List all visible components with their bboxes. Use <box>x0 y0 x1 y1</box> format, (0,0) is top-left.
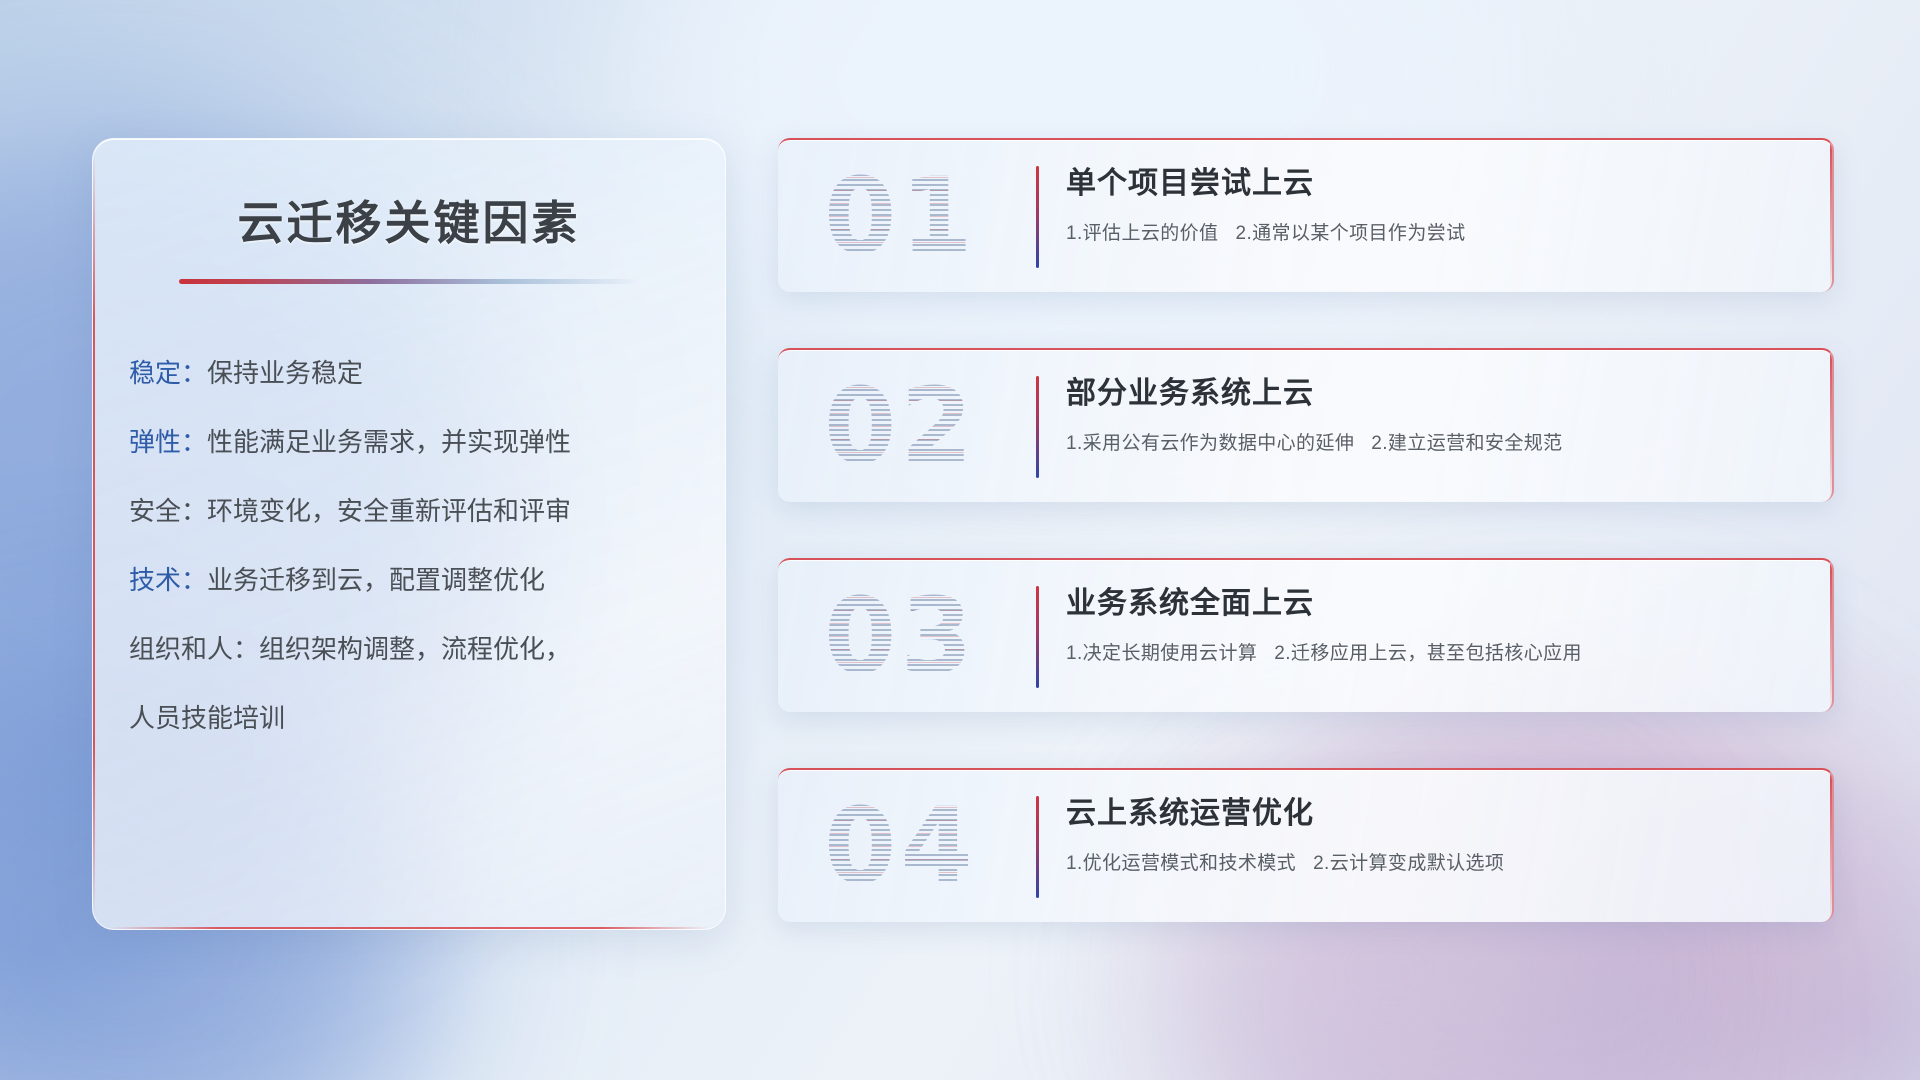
factor-text: 业务迁移到云，配置调整优化 <box>207 565 545 595</box>
factor-list: 稳定：保持业务稳定弹性：性能满足业务需求，并实现弹性安全：环境变化，安全重新评估… <box>129 360 725 731</box>
step-divider-bar <box>1036 376 1039 478</box>
step-title: 部分业务系统上云 <box>1066 376 1802 412</box>
factor-row: 安全：环境变化，安全重新评估和评审 <box>129 498 701 524</box>
step-number-tint-overlay: 02 <box>824 374 977 478</box>
factor-row: 技术：业务迁移到云，配置调整优化 <box>129 567 701 593</box>
factor-text: 组织架构调整，流程优化， <box>259 634 571 664</box>
factor-row: 弹性：性能满足业务需求，并实现弹性 <box>129 429 701 455</box>
step-description: 1.采用公有云作为数据中心的延伸 2.建立运营和安全规范 <box>1066 428 1802 455</box>
migration-steps-list: 0101单个项目尝试上云1.评估上云的价值 2.通常以某个项目作为尝试0202部… <box>778 138 1834 922</box>
step-title: 单个项目尝试上云 <box>1066 166 1802 202</box>
step-number-tint-overlay: 04 <box>824 794 977 898</box>
step-description: 1.评估上云的价值 2.通常以某个项目作为尝试 <box>1066 218 1802 245</box>
factor-row: 稳定：保持业务稳定 <box>129 360 701 386</box>
title-underline-rule <box>179 279 639 284</box>
factor-text: 性能满足业务需求，并实现弹性 <box>207 427 571 457</box>
step-description: 1.优化运营模式和技术模式 2.云计算变成默认选项 <box>1066 848 1802 875</box>
factor-label: 安全： <box>129 496 207 526</box>
key-factors-panel: 云迁移关键因素 稳定：保持业务稳定弹性：性能满足业务需求，并实现弹性安全：环境变… <box>92 138 726 930</box>
factor-label: 技术： <box>129 565 207 595</box>
step-divider-bar <box>1036 796 1039 898</box>
step-number-tint-overlay: 03 <box>824 584 977 688</box>
factor-text: 人员技能培训 <box>129 703 285 733</box>
factor-label: 稳定： <box>129 358 207 388</box>
step-title: 云上系统运营优化 <box>1066 796 1802 832</box>
step-divider-bar <box>1036 586 1039 688</box>
step-title: 业务系统全面上云 <box>1066 586 1802 622</box>
factor-label: 组织和人： <box>129 634 259 664</box>
step-card[interactable]: 0202部分业务系统上云1.采用公有云作为数据中心的延伸 2.建立运营和安全规范 <box>778 348 1834 502</box>
step-body: 业务系统全面上云1.决定长期使用云计算 2.迁移应用上云，甚至包括核心应用 <box>1066 586 1802 665</box>
factor-row: 组织和人：组织架构调整，流程优化， <box>129 636 701 662</box>
step-card[interactable]: 0404云上系统运营优化1.优化运营模式和技术模式 2.云计算变成默认选项 <box>778 768 1834 922</box>
step-card[interactable]: 0101单个项目尝试上云1.评估上云的价值 2.通常以某个项目作为尝试 <box>778 138 1834 292</box>
slide-root: 云迁移关键因素 稳定：保持业务稳定弹性：性能满足业务需求，并实现弹性安全：环境变… <box>0 0 1920 1080</box>
step-body: 单个项目尝试上云1.评估上云的价值 2.通常以某个项目作为尝试 <box>1066 166 1802 245</box>
factor-row: 人员技能培训 <box>129 705 701 731</box>
factor-label: 弹性： <box>129 427 207 457</box>
factor-text: 保持业务稳定 <box>207 358 363 388</box>
panel-title: 云迁移关键因素 <box>93 187 725 253</box>
step-body: 部分业务系统上云1.采用公有云作为数据中心的延伸 2.建立运营和安全规范 <box>1066 376 1802 455</box>
factor-text: 环境变化，安全重新评估和评审 <box>207 496 571 526</box>
step-number-tint-overlay: 01 <box>824 164 977 268</box>
step-divider-bar <box>1036 166 1039 268</box>
step-body: 云上系统运营优化1.优化运营模式和技术模式 2.云计算变成默认选项 <box>1066 796 1802 875</box>
step-card[interactable]: 0303业务系统全面上云1.决定长期使用云计算 2.迁移应用上云，甚至包括核心应… <box>778 558 1834 712</box>
step-description: 1.决定长期使用云计算 2.迁移应用上云，甚至包括核心应用 <box>1066 638 1802 665</box>
